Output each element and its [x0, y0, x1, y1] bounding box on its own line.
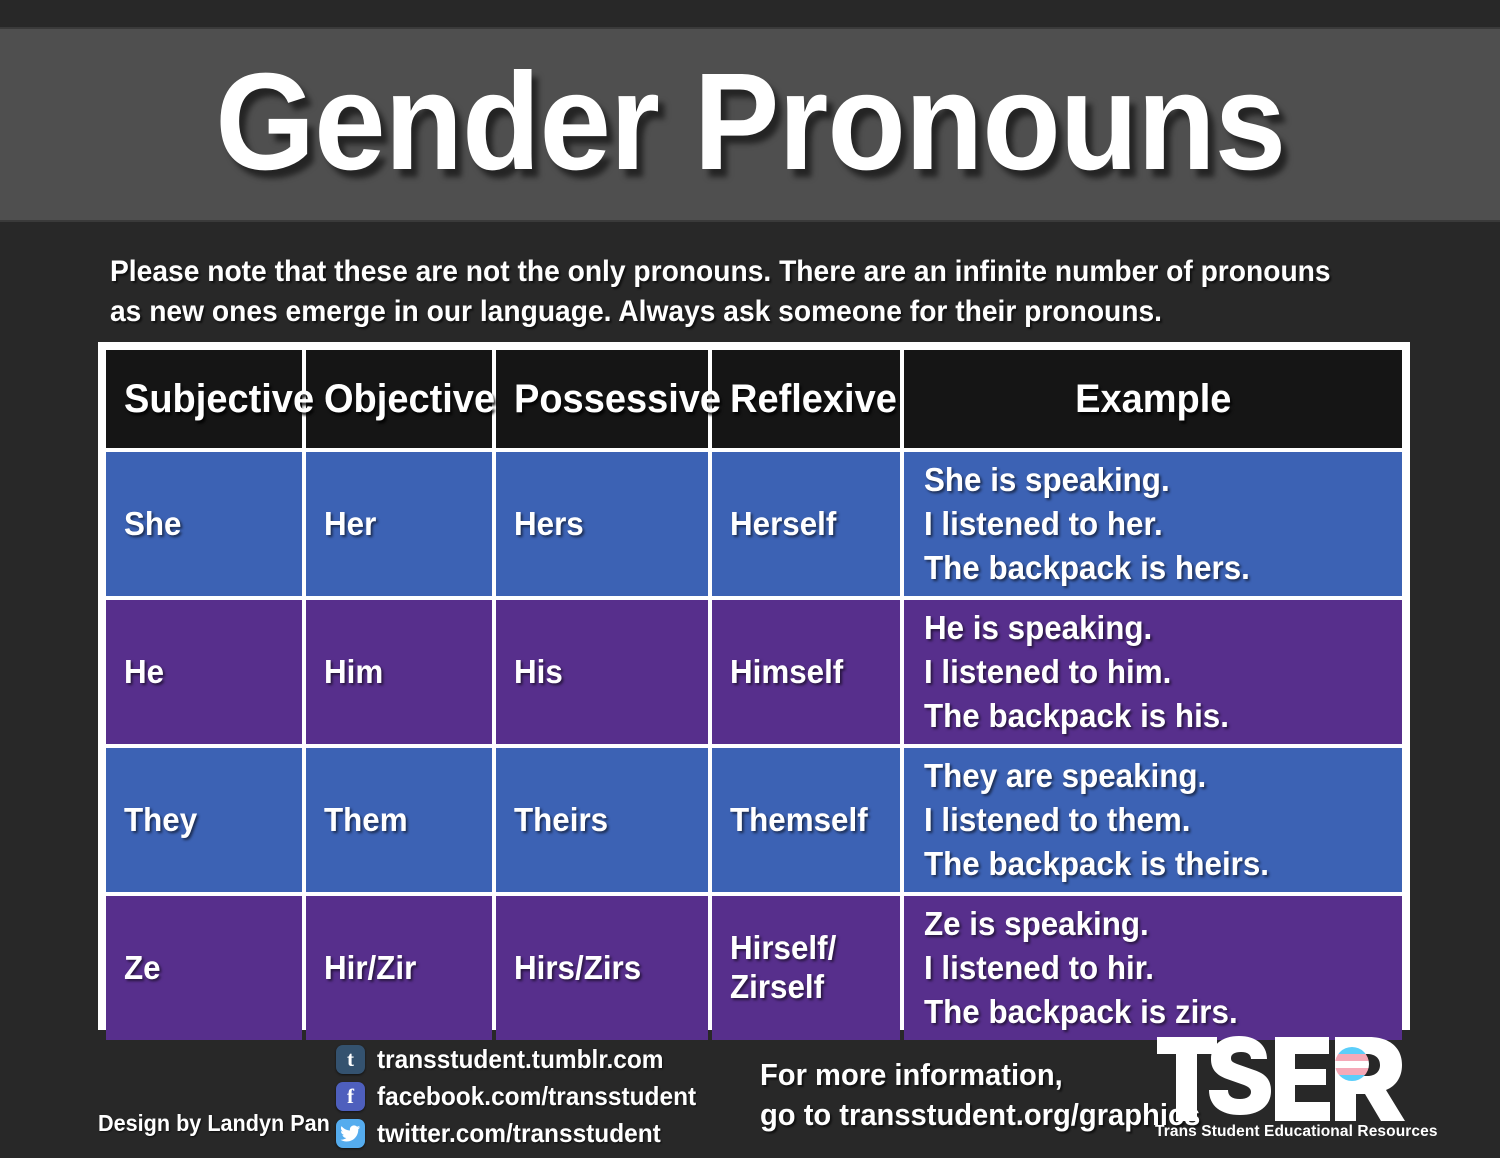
- cell-reflexive: Hirself/ Zirself: [712, 896, 900, 1040]
- cell-text: Themself: [730, 801, 868, 840]
- cell-text: She: [124, 505, 182, 544]
- example-line: The backpack is his.: [924, 694, 1378, 738]
- tumblr-icon[interactable]: t: [336, 1045, 365, 1074]
- cell-possessive: Hers: [496, 452, 708, 596]
- table-row: He Him His Himself He is speaking. I lis…: [106, 600, 1402, 744]
- pronouns-table: Subjective Objective Possessive Reflexiv…: [102, 346, 1406, 1044]
- cell-text: Hers: [514, 505, 584, 544]
- cell-text: Them: [324, 801, 408, 840]
- column-header-subjective: Subjective: [106, 350, 302, 448]
- table-row: They Them Theirs Themself They are speak…: [106, 748, 1402, 892]
- example-line: The backpack is hers.: [924, 546, 1378, 590]
- cell-reflexive: Himself: [712, 600, 900, 744]
- column-header-label: Objective: [324, 377, 495, 422]
- cell-possessive: Theirs: [496, 748, 708, 892]
- cell-objective: Her: [306, 452, 492, 596]
- social-link-label: twitter.com/transstudent: [377, 1118, 661, 1149]
- table-header-row: Subjective Objective Possessive Reflexiv…: [106, 350, 1402, 448]
- cell-text: Hirs/Zirs: [514, 949, 641, 988]
- column-header-label: Reflexive: [730, 377, 897, 422]
- pronouns-table-container: Subjective Objective Possessive Reflexiv…: [98, 342, 1410, 1030]
- table-body: She Her Hers Herself She is speaking. I …: [106, 452, 1402, 1040]
- cell-objective: Hir/Zir: [306, 896, 492, 1040]
- example-line: I listened to her.: [924, 502, 1378, 546]
- cell-text: He: [124, 653, 164, 692]
- column-header-possessive: Possessive: [496, 350, 708, 448]
- cell-possessive: Hirs/Zirs: [496, 896, 708, 1040]
- example-line: Ze is speaking.: [924, 902, 1378, 946]
- social-link-tumblr[interactable]: t transstudent.tumblr.com: [336, 1042, 666, 1076]
- cell-text: Her: [324, 505, 376, 544]
- more-information-text: For more information, go to transstudent…: [760, 1055, 1200, 1136]
- example-line: I listened to him.: [924, 650, 1378, 694]
- cell-subjective: Ze: [106, 896, 302, 1040]
- cell-text: Hir/Zir: [324, 949, 416, 988]
- social-link-label: facebook.com/transstudent: [377, 1081, 696, 1112]
- more-info-line-2: go to transstudent.org/graphics: [760, 1095, 1200, 1135]
- tser-logo: Trans Student Educational Resources: [1155, 1035, 1413, 1147]
- facebook-glyph: f: [347, 1086, 354, 1107]
- cell-reflexive: Themself: [712, 748, 900, 892]
- cell-text: Hirself/: [730, 929, 892, 968]
- social-link-facebook[interactable]: f facebook.com/transstudent: [336, 1079, 666, 1113]
- column-header-example: Example: [904, 350, 1402, 448]
- social-links-list: t transstudent.tumblr.com f facebook.com…: [336, 1042, 666, 1153]
- table-row: She Her Hers Herself She is speaking. I …: [106, 452, 1402, 596]
- column-header-label: Example: [1075, 377, 1231, 422]
- cell-subjective: She: [106, 452, 302, 596]
- cell-reflexive: Herself: [712, 452, 900, 596]
- cell-example: She is speaking. I listened to her. The …: [904, 452, 1402, 596]
- cell-text: His: [514, 653, 563, 692]
- table-header: Subjective Objective Possessive Reflexiv…: [106, 350, 1402, 448]
- facebook-icon[interactable]: f: [336, 1082, 365, 1111]
- cell-possessive: His: [496, 600, 708, 744]
- cell-example: He is speaking. I listened to him. The b…: [904, 600, 1402, 744]
- cell-example: They are speaking. I listened to them. T…: [904, 748, 1402, 892]
- page-title: Gender Pronouns: [215, 53, 1285, 191]
- example-line: He is speaking.: [924, 606, 1378, 650]
- cell-text: Zirself: [730, 968, 892, 1007]
- tser-subtitle: Trans Student Educational Resources: [1155, 1123, 1413, 1141]
- cell-subjective: They: [106, 748, 302, 892]
- gender-pronouns-poster: Gender Pronouns Please note that these a…: [0, 0, 1500, 1158]
- twitter-bird-glyph: [340, 1123, 361, 1144]
- table-row: Ze Hir/Zir Hirs/Zirs Hirself/ Zirself Ze…: [106, 896, 1402, 1040]
- cell-text: Ze: [124, 949, 161, 988]
- cell-text: Him: [324, 653, 383, 692]
- social-link-label: transstudent.tumblr.com: [377, 1044, 664, 1075]
- title-band: Gender Pronouns: [0, 27, 1500, 222]
- cell-subjective: He: [106, 600, 302, 744]
- tser-wordmark: [1155, 1035, 1413, 1127]
- cell-text: Herself: [730, 505, 836, 544]
- column-header-objective: Objective: [306, 350, 492, 448]
- column-header-label: Subjective: [124, 377, 314, 422]
- cell-example: Ze is speaking. I listened to hir. The b…: [904, 896, 1402, 1040]
- cell-text: They: [124, 801, 197, 840]
- cell-text: Himself: [730, 653, 843, 692]
- column-header-label: Possessive: [514, 377, 721, 422]
- tumblr-glyph: t: [347, 1049, 354, 1070]
- more-info-line-1: For more information,: [760, 1055, 1200, 1095]
- cell-text: Theirs: [514, 801, 608, 840]
- example-line: The backpack is zirs.: [924, 990, 1378, 1034]
- example-line: The backpack is theirs.: [924, 842, 1378, 886]
- example-line: I listened to them.: [924, 798, 1378, 842]
- cell-objective: Him: [306, 600, 492, 744]
- design-credit: Design by Landyn Pan: [98, 1110, 330, 1137]
- example-line: I listened to hir.: [924, 946, 1378, 990]
- example-line: She is speaking.: [924, 458, 1378, 502]
- column-header-reflexive: Reflexive: [712, 350, 900, 448]
- social-link-twitter[interactable]: twitter.com/transstudent: [336, 1116, 666, 1150]
- twitter-icon[interactable]: [336, 1119, 365, 1148]
- cell-objective: Them: [306, 748, 492, 892]
- example-line: They are speaking.: [924, 754, 1378, 798]
- disclaimer-note: Please note that these are not the only …: [110, 252, 1332, 331]
